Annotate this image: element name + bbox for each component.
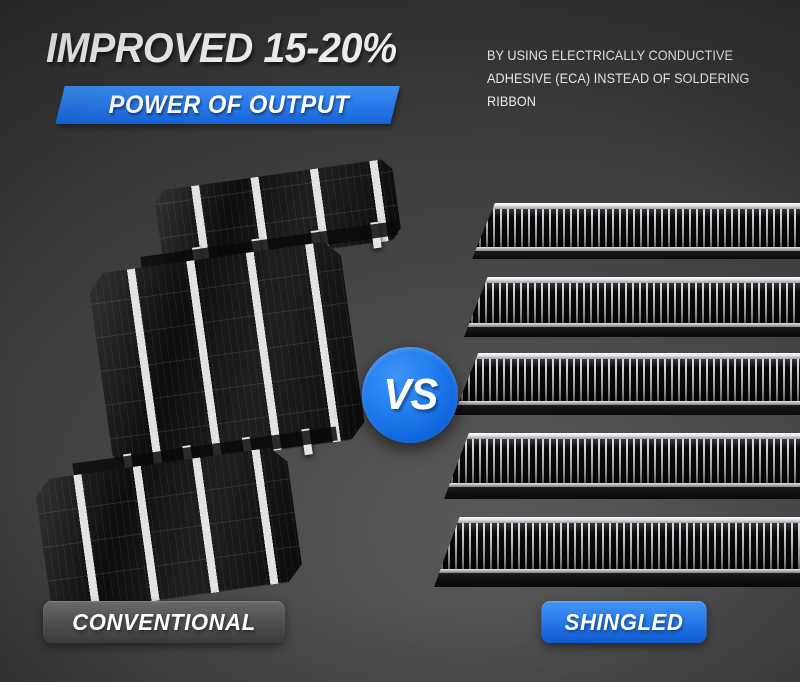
shingled-strip-2	[464, 277, 800, 337]
vs-label: VS	[383, 370, 437, 420]
conventional-panel-image	[40, 175, 370, 595]
solar-cell-bottom	[26, 445, 304, 616]
shingled-strip-4	[444, 433, 800, 499]
shingled-strip-1	[472, 203, 800, 259]
shingled-strip-5	[434, 517, 800, 587]
shingled-strip-3	[454, 353, 800, 415]
vs-badge: VS	[362, 347, 458, 443]
banner-label: POWER OF OUTPUT	[82, 90, 377, 120]
shingled-caption: SHINGLED	[541, 601, 706, 643]
infographic-root: IMPROVED 15-20% POWER OF OUTPUT BY USING…	[0, 0, 800, 682]
page-title: IMPROVED 15-20%	[46, 27, 397, 69]
shingled-panel-image	[440, 195, 800, 595]
subcopy-text: BY USING ELECTRICALLY CONDUCTIVE ADHESIV…	[487, 44, 766, 113]
conventional-caption: CONVENTIONAL	[43, 601, 285, 643]
